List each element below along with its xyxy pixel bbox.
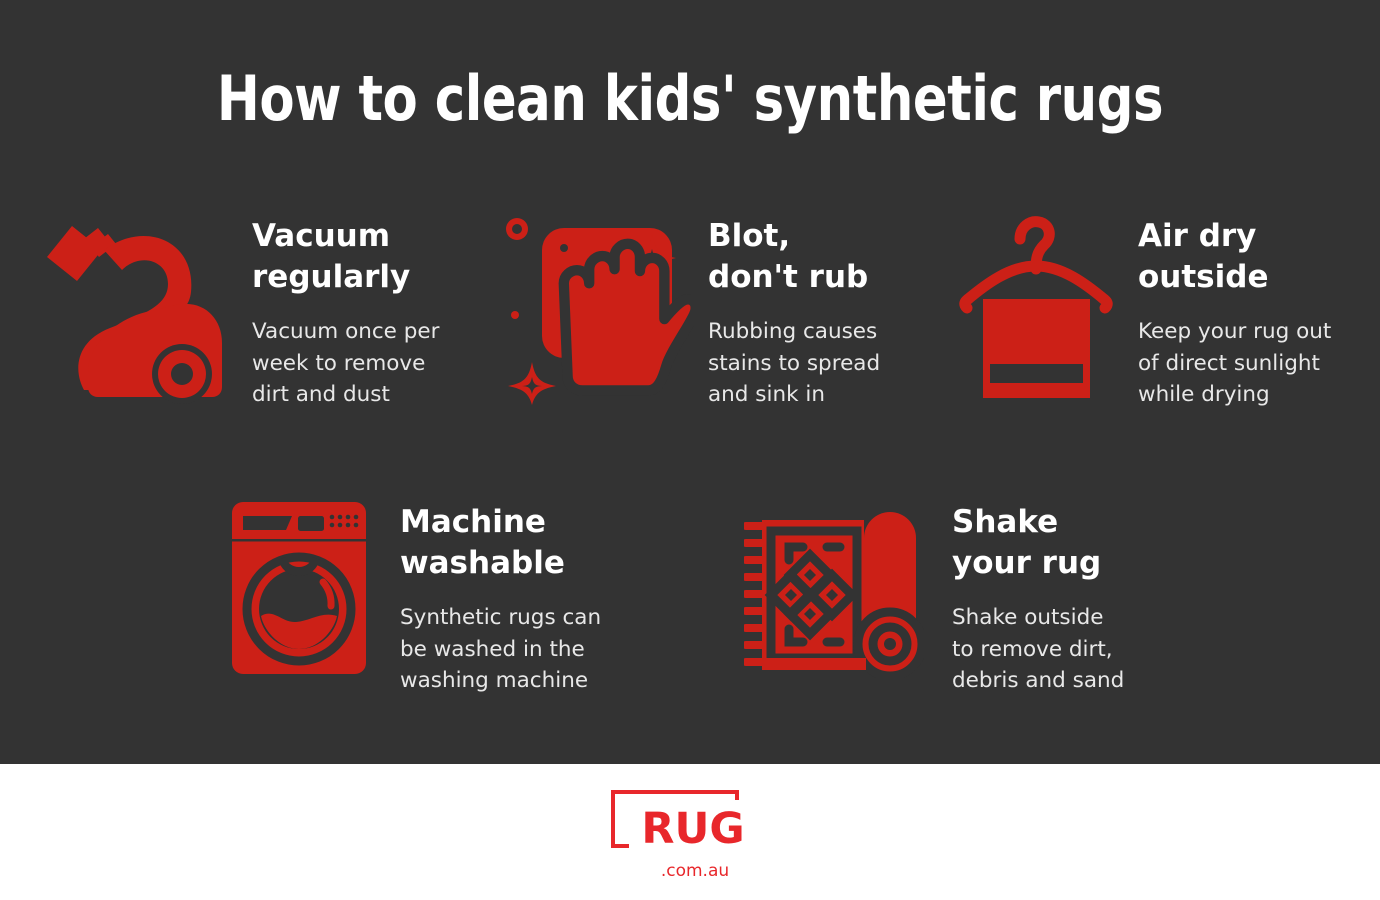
page-title: How to clean kids' synthetic rugs: [55, 62, 1325, 135]
tip-body: Shake outside to remove dirt, debris and…: [952, 602, 1174, 696]
footer-bar: RUG .com.au: [0, 764, 1380, 900]
tip-heading: Machine washable: [400, 502, 660, 584]
tip-body: Rubbing causes stains to spread and sink…: [708, 316, 944, 410]
rug-com-au-logo[interactable]: RUG .com.au: [605, 782, 775, 882]
tip-heading: Blot, don't rub: [708, 216, 944, 298]
dark-content-panel: How to clean kids' synthetic rugs: [0, 0, 1380, 764]
tip-card-text: Machine washable Synthetic rugs can be w…: [400, 498, 660, 696]
tip-heading: Shake your rug: [952, 502, 1174, 584]
vacuum-cleaner-icon: [36, 212, 236, 412]
tip-card-text: Air dry outside Keep your rug out of dir…: [1138, 212, 1358, 410]
infographic-page: How to clean kids' synthetic rugs: [0, 0, 1380, 900]
logo-wordmark: RUG: [629, 800, 757, 858]
tip-card-blot: Blot, don't rub Rubbing causes stains to…: [504, 212, 944, 412]
tip-card-text: Vacuum regularly Vacuum once per week to…: [252, 212, 506, 410]
washing-machine-icon: [230, 498, 370, 683]
tip-card-machine: Machine washable Synthetic rugs can be w…: [230, 498, 660, 696]
rolled-rug-icon: [744, 498, 924, 683]
tip-body: Keep your rug out of direct sunlight whi…: [1138, 316, 1358, 410]
tip-heading: Vacuum regularly: [252, 216, 506, 298]
clothes-hanger-towel-icon: [958, 212, 1118, 412]
tip-card-shake: Shake your rug Shake outside to remove d…: [744, 498, 1174, 696]
tip-card-vacuum: Vacuum regularly Vacuum once per week to…: [36, 212, 506, 412]
tip-card-airdry: Air dry outside Keep your rug out of dir…: [958, 212, 1358, 412]
logo-tld: .com.au: [629, 861, 761, 881]
tip-heading: Air dry outside: [1138, 216, 1358, 298]
tip-body: Synthetic rugs can be washed in the wash…: [400, 602, 660, 696]
tip-card-text: Shake your rug Shake outside to remove d…: [952, 498, 1174, 696]
tip-card-text: Blot, don't rub Rubbing causes stains to…: [708, 212, 944, 410]
hand-blotting-cloth-icon: [504, 212, 694, 412]
tip-body: Vacuum once per week to remove dirt and …: [252, 316, 506, 410]
